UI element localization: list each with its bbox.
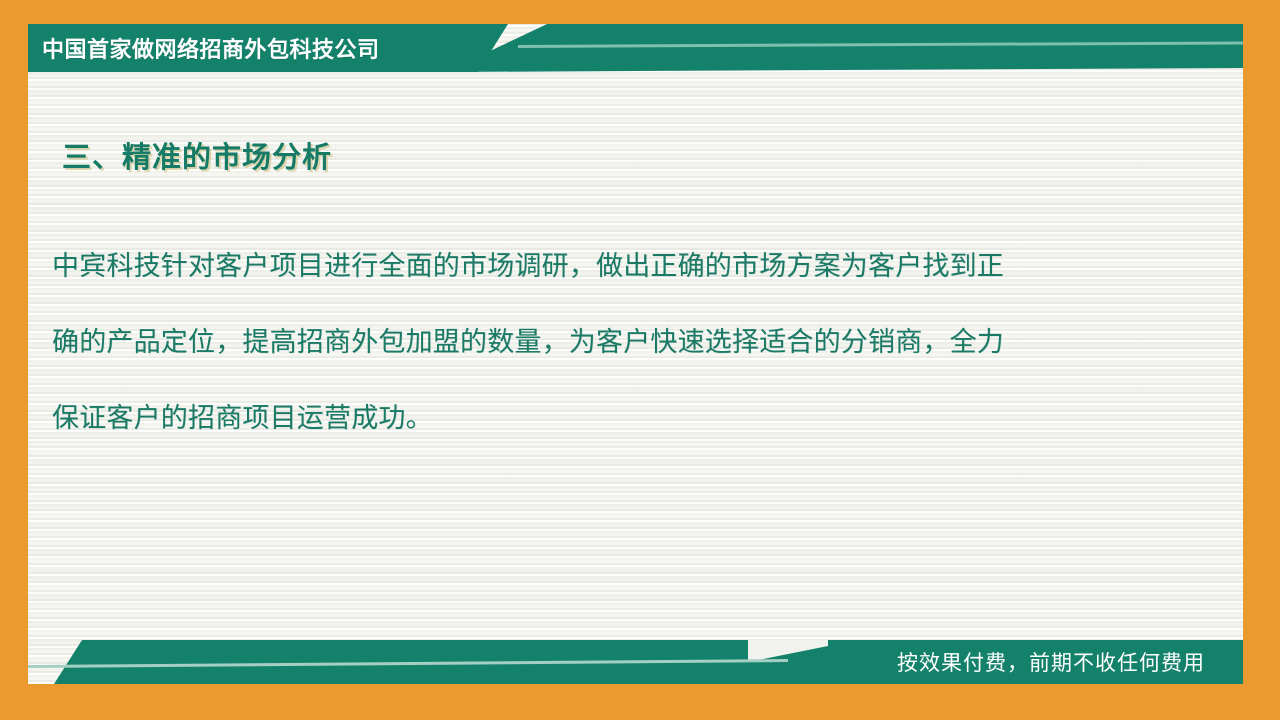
body-line: 确的产品定位，提高招商外包加盟的数量，为客户快速选择适合的分销商，全力 bbox=[52, 304, 1182, 380]
header-title: 中国首家做网络招商外包科技公司 bbox=[42, 24, 380, 72]
header-band: 中国首家做网络招商外包科技公司 bbox=[28, 24, 1243, 72]
footer-slogan: 按效果付费，前期不收任何费用 bbox=[897, 640, 1205, 684]
header-band-right-shape bbox=[446, 24, 1243, 72]
body-line: 保证客户的招商项目运营成功。 bbox=[52, 380, 1182, 456]
slide-canvas: 中国首家做网络招商外包科技公司 三、精准的市场分析 中宾科技针对客户项目进行全面… bbox=[0, 0, 1280, 720]
footer-band: 按效果付费，前期不收任何费用 bbox=[28, 640, 1243, 684]
body-line: 中宾科技针对客户项目进行全面的市场调研，做出正确的市场方案为客户找到正 bbox=[52, 228, 1182, 304]
body-paragraph: 中宾科技针对客户项目进行全面的市场调研，做出正确的市场方案为客户找到正 确的产品… bbox=[52, 228, 1182, 456]
section-heading: 三、精准的市场分析 bbox=[62, 134, 332, 176]
